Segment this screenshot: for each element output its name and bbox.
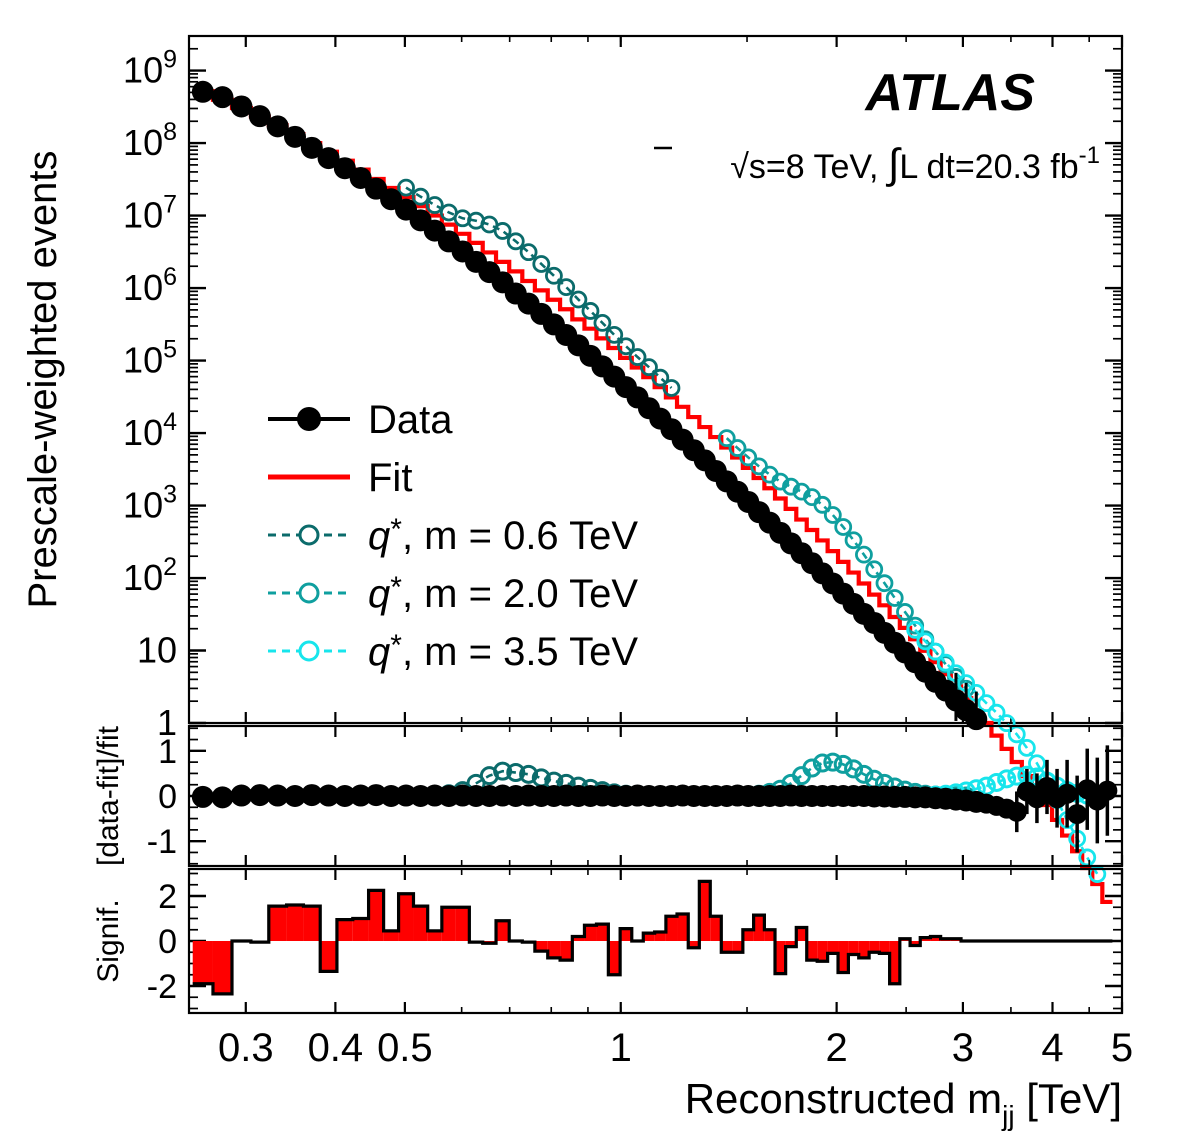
significance-bar [303,906,320,941]
signal-06tev-top-marker [559,280,574,295]
x-axis-title: Reconstructed mjj [TeV] [685,1075,1122,1131]
legend-label-2: q*, m = 0.6 TeV [368,513,638,558]
legend-label-4: q*, m = 3.5 TeV [368,629,638,674]
significance-bar [869,941,879,952]
y-tick-label-top: 107 [123,191,177,236]
dijet-mass-spectrum-figure: 110102103104105106107108109ATLAS√s=8 TeV… [0,0,1181,1133]
y-tick-label-mid: 0 [158,778,177,816]
significance-bar [287,905,304,941]
residual-point [192,786,214,808]
legend-marker-signal-4 [300,642,318,660]
significance-bar [743,930,754,941]
significance-bar [413,906,427,941]
significance-bar [596,924,608,941]
significance-bar [608,941,620,975]
y-tick-label-bot: 2 [158,878,177,916]
significance-bar [732,941,743,952]
y-axis-title-bot: Signif. [92,899,125,982]
data-point-top [192,81,214,103]
x-tick-label: 5 [1111,1026,1133,1070]
x-tick-label: 1 [610,1026,632,1070]
significance-bar [320,941,337,971]
y-tick-label-bot: -2 [147,968,177,1006]
y-tick-label-top: 103 [123,481,177,526]
legend-marker-signal-2 [300,526,318,544]
significance-bar [620,929,632,941]
significance-bar [828,941,838,953]
significance-bar [584,925,596,941]
y-tick-label-mid: -1 [147,823,177,861]
legend-label-1: Fit [368,456,412,500]
significance-bar [677,914,688,941]
significance-bar [269,906,287,941]
figure-root: 110102103104105106107108109ATLAS√s=8 TeV… [0,0,1181,1133]
significance-bar [848,941,858,955]
atlas-label: ATLAS [864,64,1036,122]
y-tick-label-top: 109 [123,46,177,91]
significance-bar [442,907,456,941]
signal-06tev-top-marker [495,223,510,238]
x-tick-label: 0.4 [308,1026,364,1070]
signal-35tev-resid-marker [989,774,1005,790]
legend-marker-data [297,407,321,431]
significance-bar [699,881,710,941]
y-tick-label-mid: 1 [158,733,177,771]
significance-bar [496,921,509,941]
x-tick-label: 2 [826,1026,848,1070]
x-tick-label: 0.3 [218,1026,274,1070]
x-tick-label: 0.5 [377,1026,433,1070]
y-tick-label-top: 104 [123,408,177,453]
x-tick-label: 4 [1041,1026,1063,1070]
significance-bar [710,916,721,941]
significance-bar [666,916,677,941]
legend-label-0: Data [368,398,453,442]
significance-bar [456,907,469,941]
significance-bar [721,941,732,952]
significance-bar [399,894,414,941]
significance-bar [560,941,572,960]
significance-bar [353,919,369,942]
signal-20tev-top-marker [867,562,882,577]
x-tick-label: 3 [952,1026,974,1070]
signal-06tev-top-marker [521,245,536,260]
y-tick-label-top: 102 [123,553,177,598]
y-tick-label-bot: 0 [158,923,177,961]
signal-20tev-top-marker [887,590,902,605]
y-axis-title-mid: [data-fit]/fit [92,725,125,866]
y-tick-label-top: 10 [137,630,177,671]
residual-point [211,786,233,808]
significance-bar [213,941,232,994]
significance-bar [754,915,765,941]
data-point-top [211,86,233,108]
luminosity-label: √s=8 TeV, ∫L dt=20.3 fb-1 [730,140,1100,187]
signal-20tev-top-marker [846,533,861,548]
significance-bar [548,941,560,958]
signal-06tev-top-marker [583,303,598,318]
y-tick-label-top: 105 [123,336,177,381]
significance-bar [369,890,384,941]
significance-bar [193,941,213,984]
y-tick-label-top: 106 [123,263,177,308]
significance-bar [337,920,353,941]
legend-label-3: q*, m = 2.0 TeV [368,571,638,616]
legend-marker-signal-3 [300,584,318,602]
y-tick-label-top: 108 [123,118,177,163]
y-axis-title-top: Prescale-weighted events [21,150,65,608]
